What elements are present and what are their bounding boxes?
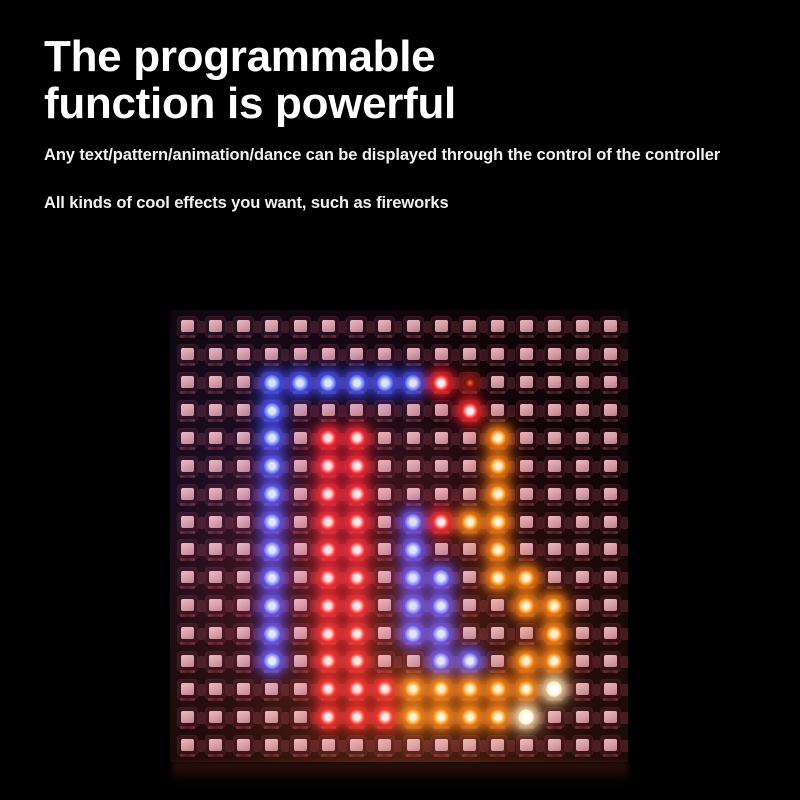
led-package xyxy=(206,540,225,559)
led-package xyxy=(601,513,620,532)
led-package xyxy=(178,513,197,532)
led-pixel-on xyxy=(258,648,286,676)
led-package xyxy=(234,568,253,587)
led-package xyxy=(404,513,423,532)
led-pixel-off xyxy=(230,675,258,703)
led-package xyxy=(291,596,310,615)
led-pixel-off xyxy=(512,480,540,508)
led-package xyxy=(460,680,479,699)
led-package xyxy=(234,457,253,476)
led-pixel-off xyxy=(314,731,342,759)
led-package xyxy=(375,401,394,420)
led-package xyxy=(291,485,310,504)
led-package xyxy=(573,568,592,587)
led-package xyxy=(347,736,366,755)
led-package xyxy=(545,680,564,699)
led-pixel-off xyxy=(230,425,258,453)
led-package xyxy=(432,680,451,699)
led-package xyxy=(375,373,394,392)
led-package xyxy=(375,540,394,559)
led-package xyxy=(517,485,536,504)
led-pixel-off xyxy=(456,731,484,759)
led-pixel-on xyxy=(512,564,540,592)
led-package xyxy=(262,736,281,755)
led-pixel-on xyxy=(314,592,342,620)
led-package xyxy=(517,596,536,615)
led-solder-tab xyxy=(622,545,627,555)
led-pixel-off xyxy=(456,341,484,369)
led-package xyxy=(488,401,507,420)
led-package xyxy=(404,457,423,476)
led-solder-tab xyxy=(622,629,627,639)
led-package xyxy=(347,708,366,727)
led-package xyxy=(206,429,225,448)
led-pixel-off xyxy=(597,369,625,397)
led-package xyxy=(347,680,366,699)
led-package xyxy=(545,652,564,671)
led-pixel-off xyxy=(230,703,258,731)
led-pixel-off xyxy=(286,536,314,564)
led-pixel-on xyxy=(314,675,342,703)
led-package xyxy=(545,708,564,727)
led-package xyxy=(291,345,310,364)
led-pixel-off xyxy=(230,313,258,341)
led-package xyxy=(488,485,507,504)
led-package xyxy=(545,457,564,476)
led-pixel-on xyxy=(512,592,540,620)
led-package xyxy=(545,345,564,364)
led-pixel-off xyxy=(512,452,540,480)
led-package xyxy=(178,429,197,448)
led-package xyxy=(517,568,536,587)
led-pixel-on xyxy=(427,564,455,592)
led-package xyxy=(375,708,394,727)
led-pixel-off xyxy=(540,536,568,564)
led-package xyxy=(234,596,253,615)
led-pixel-off xyxy=(427,341,455,369)
led-package xyxy=(545,429,564,448)
led-package xyxy=(404,485,423,504)
led-pixel-off xyxy=(569,648,597,676)
led-pixel-off xyxy=(512,620,540,648)
led-package xyxy=(375,680,394,699)
led-pixel-on xyxy=(343,703,371,731)
led-pixel-on xyxy=(484,452,512,480)
led-pixel-off xyxy=(230,564,258,592)
led-pixel-off xyxy=(597,313,625,341)
led-package xyxy=(573,317,592,336)
led-pixel-on xyxy=(343,425,371,453)
led-pixel-on xyxy=(456,397,484,425)
led-pixel-off xyxy=(201,425,229,453)
led-pixel-on xyxy=(484,508,512,536)
led-pixel-off xyxy=(258,313,286,341)
led-pixel-on xyxy=(427,592,455,620)
led-package xyxy=(291,708,310,727)
led-pixel-off xyxy=(173,508,201,536)
led-package xyxy=(404,624,423,643)
led-pixel-off xyxy=(371,592,399,620)
led-package xyxy=(319,345,338,364)
led-package xyxy=(404,568,423,587)
led-pixel-off xyxy=(540,397,568,425)
led-package xyxy=(432,736,451,755)
led-pixel-off xyxy=(456,620,484,648)
led-package xyxy=(601,680,620,699)
led-pixel-off xyxy=(484,313,512,341)
led-pixel-off xyxy=(286,648,314,676)
led-package xyxy=(573,680,592,699)
led-package xyxy=(601,457,620,476)
led-pixel-on xyxy=(484,564,512,592)
led-package xyxy=(432,401,451,420)
led-package xyxy=(404,652,423,671)
led-pixel-off xyxy=(597,536,625,564)
led-package xyxy=(319,429,338,448)
led-pixel-off xyxy=(597,564,625,592)
led-package xyxy=(460,652,479,671)
led-pixel-on xyxy=(286,369,314,397)
led-package xyxy=(432,596,451,615)
led-pixel-off xyxy=(173,703,201,731)
led-pixel-off xyxy=(173,536,201,564)
led-pixel-off xyxy=(427,313,455,341)
led-pixel-off xyxy=(597,731,625,759)
led-pixel-off xyxy=(286,480,314,508)
led-pixel-off xyxy=(230,452,258,480)
led-pixel-off xyxy=(371,564,399,592)
led-package xyxy=(488,708,507,727)
led-package xyxy=(291,317,310,336)
led-pixel-off xyxy=(201,480,229,508)
subtitle-line-2: All kinds of cool effects you want, such… xyxy=(44,194,449,213)
led-package xyxy=(375,652,394,671)
led-pixel-on xyxy=(456,648,484,676)
led-pixel-on xyxy=(540,620,568,648)
led-pixel-off xyxy=(230,648,258,676)
led-solder-tab xyxy=(622,322,627,332)
led-package xyxy=(432,429,451,448)
led-pixel-off xyxy=(456,592,484,620)
led-package xyxy=(291,736,310,755)
led-package xyxy=(601,596,620,615)
led-package xyxy=(432,317,451,336)
led-package xyxy=(375,624,394,643)
led-pixel-off xyxy=(230,731,258,759)
led-package xyxy=(460,457,479,476)
led-package xyxy=(488,457,507,476)
led-pixel-off xyxy=(314,341,342,369)
led-pixel-off xyxy=(569,397,597,425)
led-package xyxy=(460,596,479,615)
led-package xyxy=(601,568,620,587)
led-pixel-on xyxy=(399,620,427,648)
led-pixel-on xyxy=(258,369,286,397)
led-package xyxy=(545,736,564,755)
led-package xyxy=(460,540,479,559)
led-package xyxy=(206,345,225,364)
led-pixel-off xyxy=(258,731,286,759)
led-package xyxy=(178,736,197,755)
led-pixel-off xyxy=(427,397,455,425)
led-package xyxy=(262,513,281,532)
led-pixel-on xyxy=(427,369,455,397)
led-pixel-off xyxy=(371,620,399,648)
led-pixel-off xyxy=(371,731,399,759)
led-pixel-off xyxy=(343,731,371,759)
led-pixel-on xyxy=(399,536,427,564)
led-package xyxy=(488,540,507,559)
led-pixel-on xyxy=(427,508,455,536)
led-solder-tab xyxy=(622,490,627,500)
led-package xyxy=(291,652,310,671)
led-package xyxy=(488,373,507,392)
led-pixel-on xyxy=(314,508,342,536)
led-package xyxy=(432,485,451,504)
led-pixel-off xyxy=(456,480,484,508)
led-package xyxy=(178,373,197,392)
led-pixel-off xyxy=(427,731,455,759)
led-solder-tab xyxy=(622,462,627,472)
led-pixel-off xyxy=(343,313,371,341)
led-package xyxy=(375,457,394,476)
led-package xyxy=(206,457,225,476)
led-package xyxy=(234,624,253,643)
led-pixel-off xyxy=(399,731,427,759)
led-pixel-on xyxy=(540,648,568,676)
led-package xyxy=(601,736,620,755)
led-package xyxy=(234,708,253,727)
led-package xyxy=(262,624,281,643)
led-pixel-on xyxy=(314,452,342,480)
led-package xyxy=(404,429,423,448)
led-package xyxy=(178,401,197,420)
led-pixel-on xyxy=(484,675,512,703)
led-package xyxy=(262,457,281,476)
led-pixel-on xyxy=(314,536,342,564)
led-pixel-on xyxy=(399,675,427,703)
led-pixel-on xyxy=(399,508,427,536)
led-package xyxy=(234,373,253,392)
promo-page: The programmable function is powerful An… xyxy=(0,0,800,800)
led-package xyxy=(601,485,620,504)
led-pixel-on xyxy=(456,703,484,731)
led-package xyxy=(404,680,423,699)
led-package xyxy=(178,596,197,615)
led-pixel-on xyxy=(427,620,455,648)
led-pixel-off xyxy=(371,452,399,480)
led-solder-tab xyxy=(622,350,627,360)
led-package xyxy=(262,540,281,559)
led-pixel-off xyxy=(512,341,540,369)
led-package xyxy=(488,317,507,336)
led-pixel-off xyxy=(597,592,625,620)
led-pixel-off xyxy=(484,341,512,369)
led-package xyxy=(432,568,451,587)
led-package xyxy=(545,596,564,615)
led-pixel-off xyxy=(286,508,314,536)
led-package xyxy=(432,624,451,643)
led-package xyxy=(375,429,394,448)
led-pixel-off xyxy=(230,480,258,508)
led-package xyxy=(432,540,451,559)
led-package xyxy=(206,401,225,420)
led-package xyxy=(432,373,451,392)
led-pixel-on xyxy=(314,648,342,676)
led-pixel-on xyxy=(343,452,371,480)
led-pixel-on xyxy=(456,508,484,536)
led-pixel-off xyxy=(399,452,427,480)
led-pixel-on xyxy=(343,648,371,676)
led-pixel-on xyxy=(371,369,399,397)
led-pixel-off xyxy=(201,620,229,648)
led-package xyxy=(291,429,310,448)
led-pixel-off xyxy=(286,620,314,648)
led-package xyxy=(573,345,592,364)
led-pixel-off xyxy=(173,452,201,480)
led-package xyxy=(488,513,507,532)
led-package xyxy=(234,345,253,364)
led-package xyxy=(545,624,564,643)
led-pixel-off xyxy=(597,703,625,731)
led-package xyxy=(404,317,423,336)
led-pixel-off xyxy=(201,592,229,620)
copy-block: The programmable function is powerful An… xyxy=(44,34,784,127)
led-solder-tab xyxy=(622,657,627,667)
led-pixel-on xyxy=(512,703,540,731)
led-matrix-panel xyxy=(170,310,628,762)
led-package xyxy=(347,513,366,532)
led-pixel-on xyxy=(427,703,455,731)
led-package xyxy=(262,596,281,615)
led-package xyxy=(319,373,338,392)
led-package xyxy=(234,429,253,448)
led-package xyxy=(291,513,310,532)
led-pixel-off xyxy=(540,480,568,508)
led-pixel-on xyxy=(371,675,399,703)
led-pixel-off xyxy=(371,508,399,536)
led-package xyxy=(601,401,620,420)
led-package xyxy=(375,485,394,504)
led-pixel-off xyxy=(286,592,314,620)
led-pixel-on xyxy=(512,675,540,703)
led-package xyxy=(432,457,451,476)
led-package xyxy=(262,429,281,448)
led-package xyxy=(347,317,366,336)
led-pixel-on xyxy=(512,648,540,676)
led-pixel-off xyxy=(569,675,597,703)
led-pixel-off xyxy=(343,397,371,425)
led-pixel-off xyxy=(569,703,597,731)
led-package xyxy=(601,652,620,671)
led-package xyxy=(234,652,253,671)
page-title: The programmable function is powerful xyxy=(44,34,784,127)
led-package xyxy=(234,680,253,699)
led-pixel-off xyxy=(399,480,427,508)
led-pixel-off xyxy=(201,675,229,703)
led-package xyxy=(460,317,479,336)
led-pixel-off xyxy=(258,675,286,703)
led-pixel-off xyxy=(540,508,568,536)
led-package xyxy=(517,680,536,699)
led-pixel-off xyxy=(286,564,314,592)
led-package xyxy=(178,652,197,671)
led-pixel-on xyxy=(343,508,371,536)
led-pixel-off xyxy=(512,425,540,453)
led-pixel-off xyxy=(371,341,399,369)
led-package xyxy=(347,373,366,392)
led-pixel-off xyxy=(173,675,201,703)
led-package xyxy=(206,652,225,671)
led-pixel-off xyxy=(456,536,484,564)
led-package xyxy=(234,736,253,755)
led-package xyxy=(404,373,423,392)
led-pixel-off xyxy=(286,731,314,759)
led-pixel-off xyxy=(512,536,540,564)
led-package xyxy=(573,596,592,615)
led-package xyxy=(404,401,423,420)
led-package xyxy=(601,317,620,336)
led-pixel-off xyxy=(569,425,597,453)
led-pixel-off xyxy=(597,452,625,480)
led-pixel-on xyxy=(343,564,371,592)
led-package xyxy=(601,345,620,364)
led-package xyxy=(488,736,507,755)
led-pixel-off xyxy=(597,341,625,369)
led-package xyxy=(460,345,479,364)
led-pixel-off xyxy=(569,564,597,592)
led-pixel-off xyxy=(286,341,314,369)
led-pixel-off xyxy=(597,508,625,536)
led-pixel-off xyxy=(512,313,540,341)
subtitle-line-1: Any text/pattern/animation/dance can be … xyxy=(44,146,720,165)
led-pixel-off xyxy=(540,731,568,759)
led-pixel-off xyxy=(399,313,427,341)
led-package xyxy=(460,736,479,755)
led-pixel-on xyxy=(258,508,286,536)
led-package xyxy=(206,736,225,755)
led-pixel-off xyxy=(201,341,229,369)
led-package xyxy=(573,401,592,420)
led-pixel-off xyxy=(173,397,201,425)
led-package xyxy=(573,708,592,727)
led-pixel-off xyxy=(286,397,314,425)
led-package xyxy=(375,513,394,532)
led-pixel-off xyxy=(201,508,229,536)
led-package xyxy=(319,457,338,476)
led-package xyxy=(178,540,197,559)
led-pixel-off xyxy=(597,648,625,676)
led-package xyxy=(573,624,592,643)
led-package xyxy=(573,457,592,476)
led-solder-tab xyxy=(622,601,627,611)
led-package xyxy=(404,708,423,727)
led-pixel-off xyxy=(597,425,625,453)
led-package xyxy=(460,708,479,727)
led-package xyxy=(319,568,338,587)
led-package xyxy=(404,345,423,364)
led-pixel-on xyxy=(258,620,286,648)
led-pixel-off xyxy=(569,508,597,536)
led-pixel-on xyxy=(314,480,342,508)
led-pixel-off xyxy=(371,397,399,425)
led-pixel-on xyxy=(343,592,371,620)
led-pixel-on xyxy=(484,425,512,453)
led-package xyxy=(178,457,197,476)
led-pixel-on xyxy=(540,675,568,703)
led-package xyxy=(573,652,592,671)
led-package xyxy=(262,680,281,699)
